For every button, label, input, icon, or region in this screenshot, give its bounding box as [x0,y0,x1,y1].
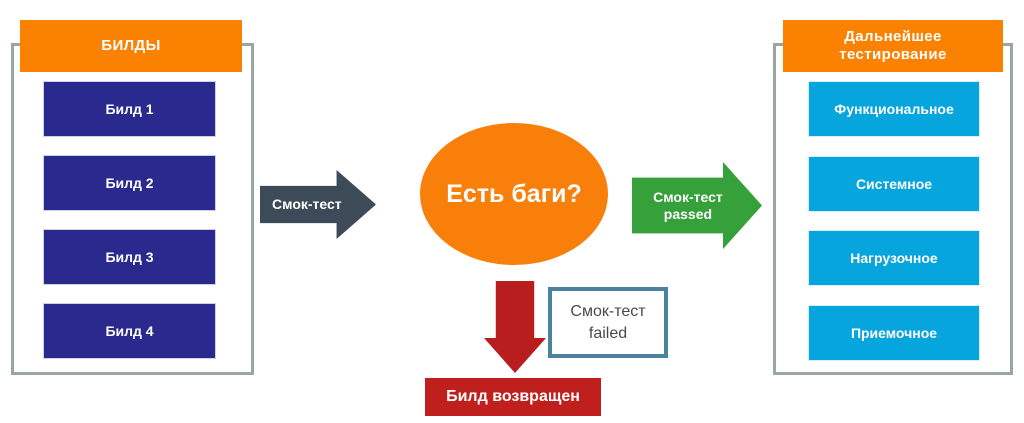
test-box-functional-label: Функциональное [834,101,954,117]
smoke-test-failed-callout: Смок-тест failed [548,287,668,358]
build-box-2[interactable]: Билд 2 [43,155,216,211]
smoke-test-passed-arrow-label: Смок-тест passed [653,189,723,221]
test-box-system-label: Системное [856,176,932,192]
testing-header-line-2: тестирование [839,46,947,63]
decision-ellipse[interactable]: Есть баги? [420,123,608,265]
build-box-2-label: Билд 2 [105,175,153,191]
test-box-load[interactable]: Нагрузочное [808,230,980,286]
test-box-acceptance[interactable]: Приемочное [808,305,980,361]
build-box-3[interactable]: Билд 3 [43,229,216,285]
build-box-1-label: Билд 1 [105,101,153,117]
testing-panel-header: Дальнейшее тестирование [783,20,1003,72]
build-box-1[interactable]: Билд 1 [43,81,216,137]
passed-arrow-line-2: passed [664,206,712,222]
build-box-4[interactable]: Билд 4 [43,303,216,359]
build-box-3-label: Билд 3 [105,249,153,265]
diagram-canvas: БИЛДЫ Билд 1 Билд 2 Билд 3 Билд 4 Смок-т… [0,0,1024,423]
testing-panel-header-label: Дальнейшее тестирование [839,28,947,64]
decision-label: Есть баги? [446,180,582,209]
test-box-system[interactable]: Системное [808,156,980,212]
passed-arrow-line-1: Смок-тест [653,189,723,205]
build-returned-banner[interactable]: Билд возвращен [425,378,601,416]
smoke-test-failed-arrow-icon [484,281,546,373]
smoke-test-arrow-icon: Смок-тест [260,170,376,239]
smoke-test-arrow-label: Смок-тест [272,196,342,212]
test-box-load-label: Нагрузочное [850,250,937,266]
smoke-test-passed-arrow-icon: Смок-тест passed [632,162,762,249]
failed-callout-line-2: failed [589,325,627,342]
testing-header-line-1: Дальнейшее [844,28,942,45]
failed-callout-line-1: Смок-тест [570,303,645,320]
test-box-functional[interactable]: Функциональное [808,81,980,137]
build-returned-label: Билд возвращен [446,388,580,406]
builds-panel-header-label: БИЛДЫ [101,37,160,55]
failed-callout-text: Смок-тест failed [570,301,645,344]
test-box-acceptance-label: Приемочное [851,325,937,341]
build-box-4-label: Билд 4 [105,323,153,339]
builds-panel-header: БИЛДЫ [20,20,242,72]
